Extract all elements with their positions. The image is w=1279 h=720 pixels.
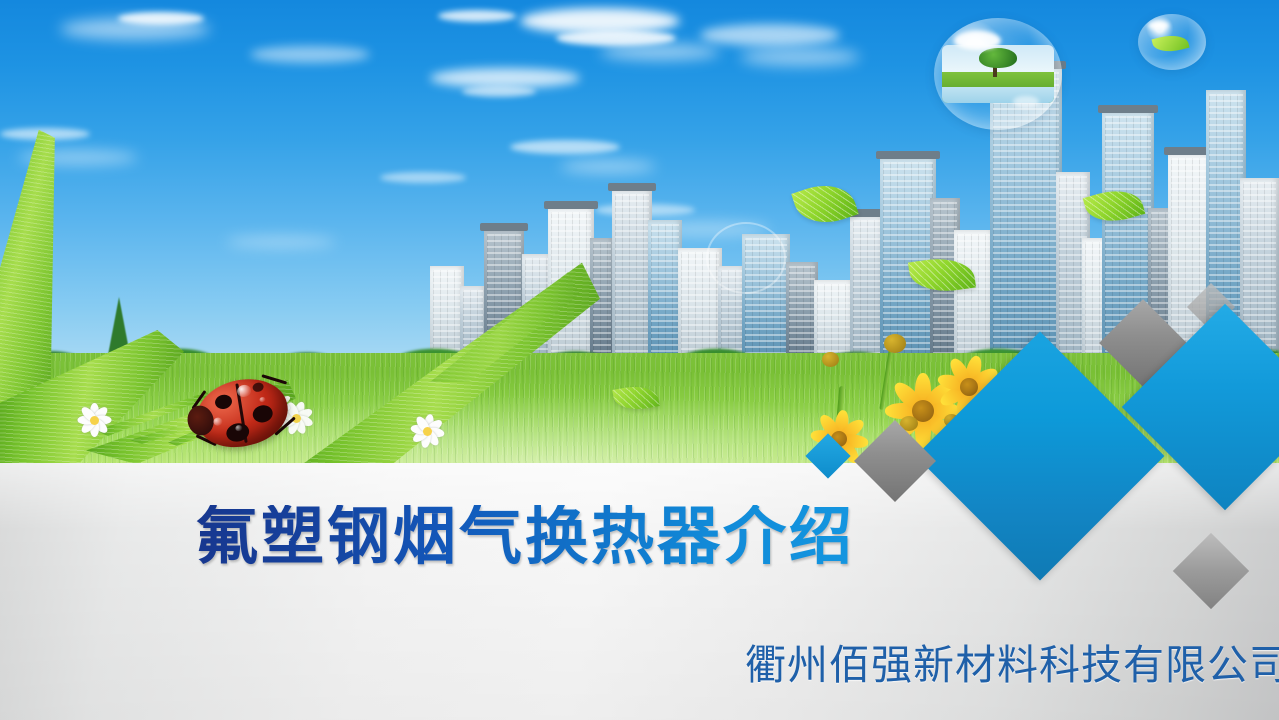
flower-bud <box>822 352 839 367</box>
cosmos-flower <box>404 408 450 454</box>
page-title: 氟塑钢烟气换热器介绍 <box>195 505 855 568</box>
cosmos-flower <box>72 398 116 442</box>
presentation-slide: 氟塑钢烟气换热器介绍 衢州佰强新材料科技有限公司 <box>0 0 1279 720</box>
bubble-with-tree <box>934 18 1062 130</box>
bubble-outline <box>706 222 786 294</box>
flower-bud <box>884 334 906 353</box>
company-name: 衢州佰强新材料科技有限公司 <box>745 645 1279 686</box>
bubble-with-leaf <box>1138 14 1206 70</box>
bubble-scene <box>942 45 1055 103</box>
